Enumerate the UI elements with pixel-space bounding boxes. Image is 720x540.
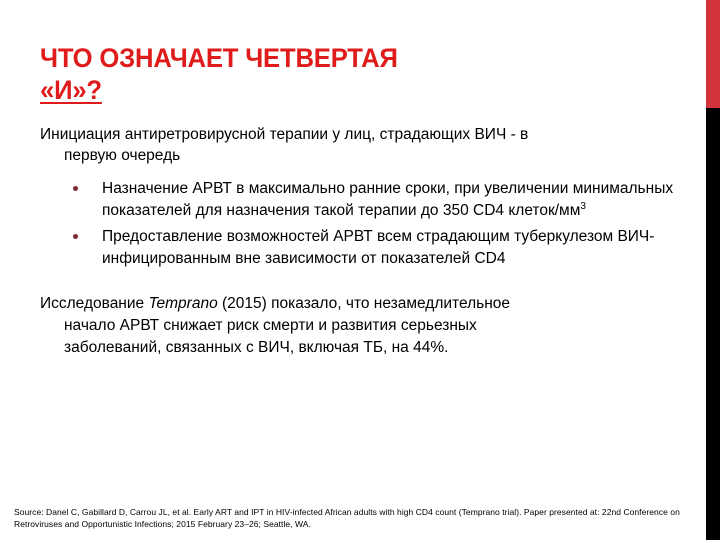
conclusion-paragraph: Исследование Temprano (2015) показало, ч… [40, 293, 690, 359]
source-footnote: Source: Danel C, Gabillard D, Carrou JL,… [14, 506, 694, 530]
slide-title: ЧТО ОЗНАЧАЕТ ЧЕТВЕРТАЯ «И»? [40, 42, 610, 106]
bullet-dot-icon [73, 186, 78, 191]
study-name: Temprano [148, 295, 217, 312]
list-item: Назначение АРВТ в максимально ранние сро… [40, 178, 690, 221]
conclusion-prefix: Исследование [40, 295, 148, 312]
lead-paragraph-line-1: Инициация антиретровирусной терапии у ли… [40, 126, 528, 143]
bullet-list: Назначение АРВТ в максимально ранние сро… [40, 178, 690, 269]
presentation-slide: ЧТО ОЗНАЧАЕТ ЧЕТВЕРТАЯ «И»? Инициация ан… [0, 0, 720, 540]
slide-title-line-1: ЧТО ОЗНАЧАЕТ ЧЕТВЕРТАЯ [40, 42, 610, 74]
lead-paragraph-line-2: первую очередь [40, 145, 690, 166]
conclusion-suffix: (2015) показало, что незамедлительное [218, 295, 510, 312]
slide-title-line-2: «И»? [40, 74, 102, 106]
bullet-superscript: 3 [580, 200, 586, 211]
bullet-text: Назначение АРВТ в максимально ранние сро… [102, 180, 673, 219]
conclusion-line-3: заболеваний, связанных с ВИЧ, включая ТБ… [40, 337, 690, 359]
list-item: Предоставление возможностей АРВТ всем ст… [40, 226, 690, 269]
slide-body: Инициация антиретровирусной терапии у ли… [40, 124, 690, 359]
bullet-text: Предоставление возможностей АРВТ всем ст… [102, 228, 654, 267]
bullet-dot-icon [73, 234, 78, 239]
conclusion-line-2: начало АРВТ снижает риск смерти и развит… [40, 315, 690, 337]
right-edge-black-bar [706, 108, 720, 540]
lead-paragraph: Инициация антиретровирусной терапии у ли… [40, 124, 690, 166]
right-edge-red-bar [706, 0, 720, 108]
